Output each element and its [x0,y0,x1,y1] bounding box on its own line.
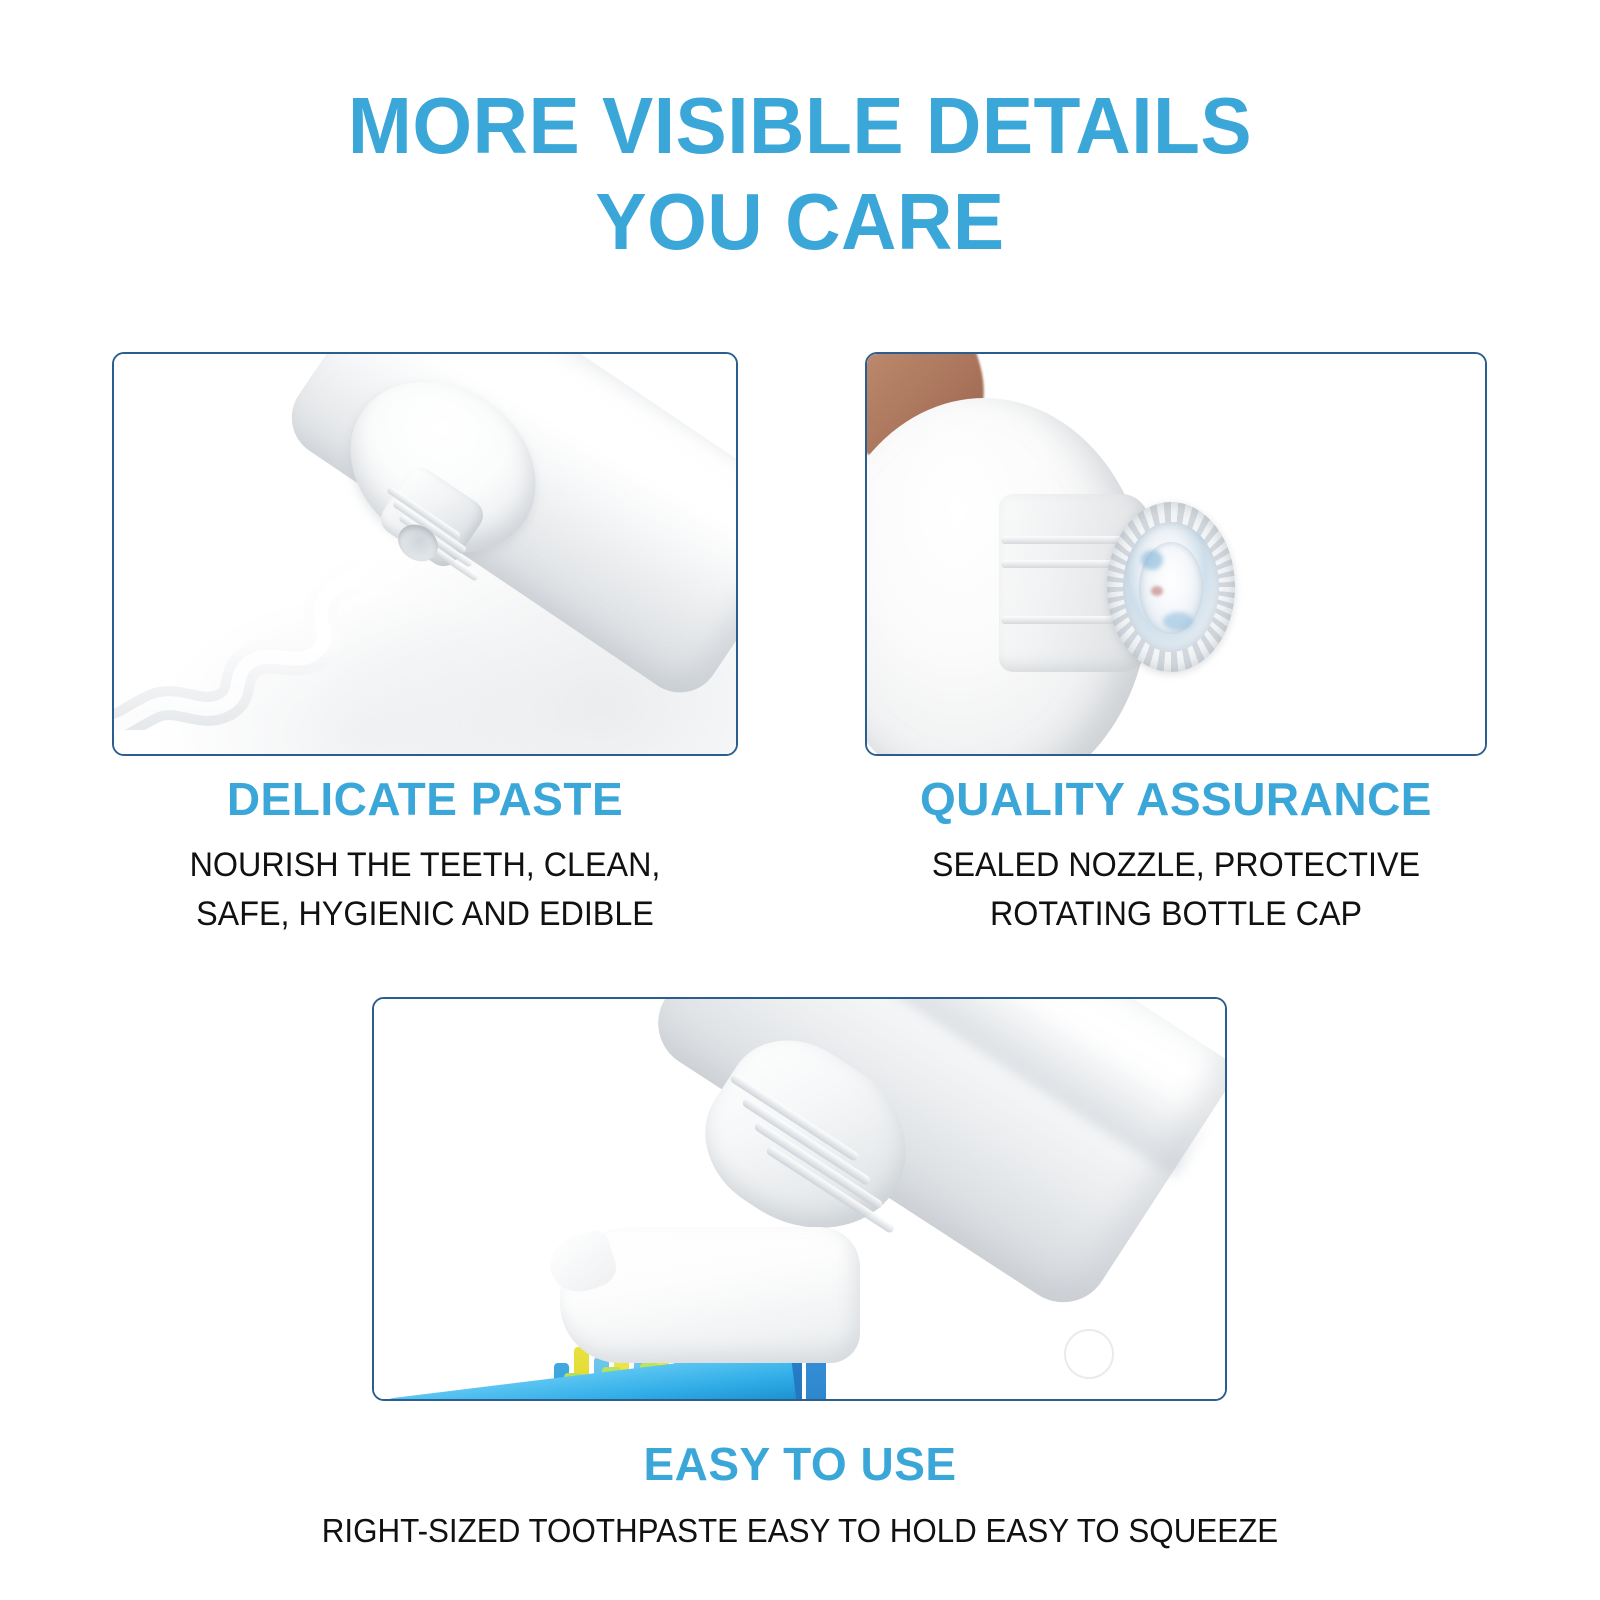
feature-body-quality-assurance: SEALED NOZZLE, PROTECTIVE ROTATING BOTTL… [862,841,1491,939]
feature-body-line: SAFE, HYGIENIC AND EDIBLE [109,890,742,939]
feature-body-line: ROTATING BOTTLE CAP [862,890,1491,939]
nozzle-highlight [1151,586,1163,596]
paste-bead-svg [112,530,494,730]
page-title: MORE VISIBLE DETAILS YOU CARE [32,78,1568,270]
feature-image-panel-easy-to-use [372,997,1227,1401]
nozzle-highlight [1163,612,1193,630]
toothpaste-tube-photo [114,354,736,754]
feature-heading-easy-to-use: EASY TO USE [0,1437,1600,1491]
feature-body-line: SEALED NOZZLE, PROTECTIVE [862,841,1491,890]
paste-bead-shape [112,530,494,730]
page-title-line-1: MORE VISIBLE DETAILS [348,81,1252,170]
feature-body-easy-to-use: RIGHT-SIZED TOOTHPASTE EASY TO HOLD EASY… [40,1506,1560,1555]
feature-heading-delicate-paste: DELICATE PASTE [112,772,738,826]
feature-heading-quality-assurance: QUALITY ASSURANCE [865,772,1487,826]
toothbrush-photo [374,999,1225,1399]
page-title-line-2: YOU CARE [32,174,1568,270]
feature-body-delicate-paste: NOURISH THE TEETH, CLEAN, SAFE, HYGIENIC… [109,841,742,939]
bottle-cap-nozzle-photo [867,354,1485,754]
feature-body-line: NOURISH THE TEETH, CLEAN, [109,841,742,890]
feature-image-panel-quality-assurance [865,352,1487,756]
nozzle-highlight [1141,550,1163,570]
feature-body-line: RIGHT-SIZED TOOTHPASTE EASY TO HOLD EASY… [40,1506,1560,1555]
feature-image-panel-delicate-paste [112,352,738,756]
